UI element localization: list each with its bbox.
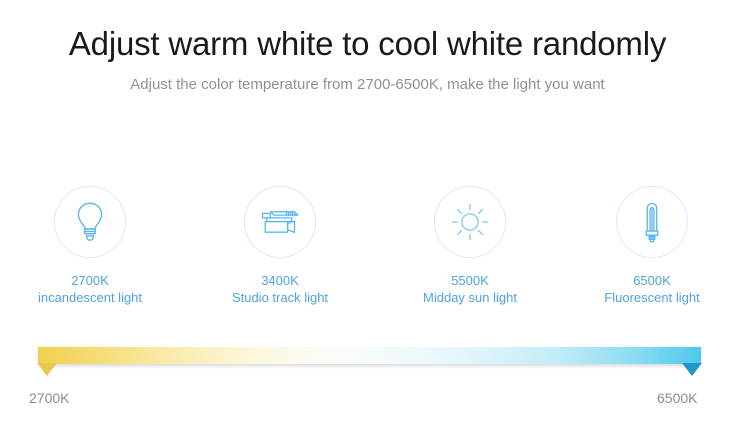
video-camera-icon xyxy=(257,205,303,239)
page-subtitle: Adjust the color temperature from 2700-6… xyxy=(0,74,735,96)
feature-kelvin: 3400K xyxy=(195,272,365,289)
sun-icon xyxy=(449,201,491,243)
feature-item-6500k: 6500K Fluorescent light xyxy=(567,186,735,306)
feature-desc: Studio track light xyxy=(195,289,365,306)
gradient-bar[interactable] xyxy=(38,347,701,364)
color-temperature-feature-row: 2700K incandescent light xyxy=(0,186,735,316)
feature-desc: incandescent light xyxy=(5,289,175,306)
fluorescent-bulb-icon xyxy=(639,199,665,245)
feature-kelvin: 2700K xyxy=(5,272,175,289)
feature-label-5500k: 5500K Midday sun light xyxy=(385,272,555,306)
scale-label-max: 6500K xyxy=(657,389,697,407)
feature-item-3400k: 3400K Studio track light xyxy=(195,186,365,306)
page-title: Adjust warm white to cool white randomly xyxy=(0,24,735,64)
feature-item-2700k: 2700K incandescent light xyxy=(5,186,175,306)
feature-desc: Fluorescent light xyxy=(567,289,735,306)
color-temperature-panel: Adjust warm white to cool white randomly… xyxy=(0,0,735,431)
feature-item-5500k: 5500K Midday sun light xyxy=(385,186,555,306)
feature-label-3400k: 3400K Studio track light xyxy=(195,272,365,306)
icon-circle-6500k xyxy=(616,186,688,258)
feature-label-2700k: 2700K incandescent light xyxy=(5,272,175,306)
icon-circle-3400k xyxy=(244,186,316,258)
warm-marker-triangle[interactable] xyxy=(37,363,57,376)
feature-kelvin: 6500K xyxy=(567,272,735,289)
light-bulb-icon xyxy=(73,200,107,244)
cool-marker-triangle[interactable] xyxy=(682,363,702,376)
color-temperature-slider[interactable] xyxy=(38,347,701,364)
scale-label-min: 2700K xyxy=(29,389,69,407)
feature-kelvin: 5500K xyxy=(385,272,555,289)
icon-circle-2700k xyxy=(54,186,126,258)
feature-label-6500k: 6500K Fluorescent light xyxy=(567,272,735,306)
icon-circle-5500k xyxy=(434,186,506,258)
feature-desc: Midday sun light xyxy=(385,289,555,306)
